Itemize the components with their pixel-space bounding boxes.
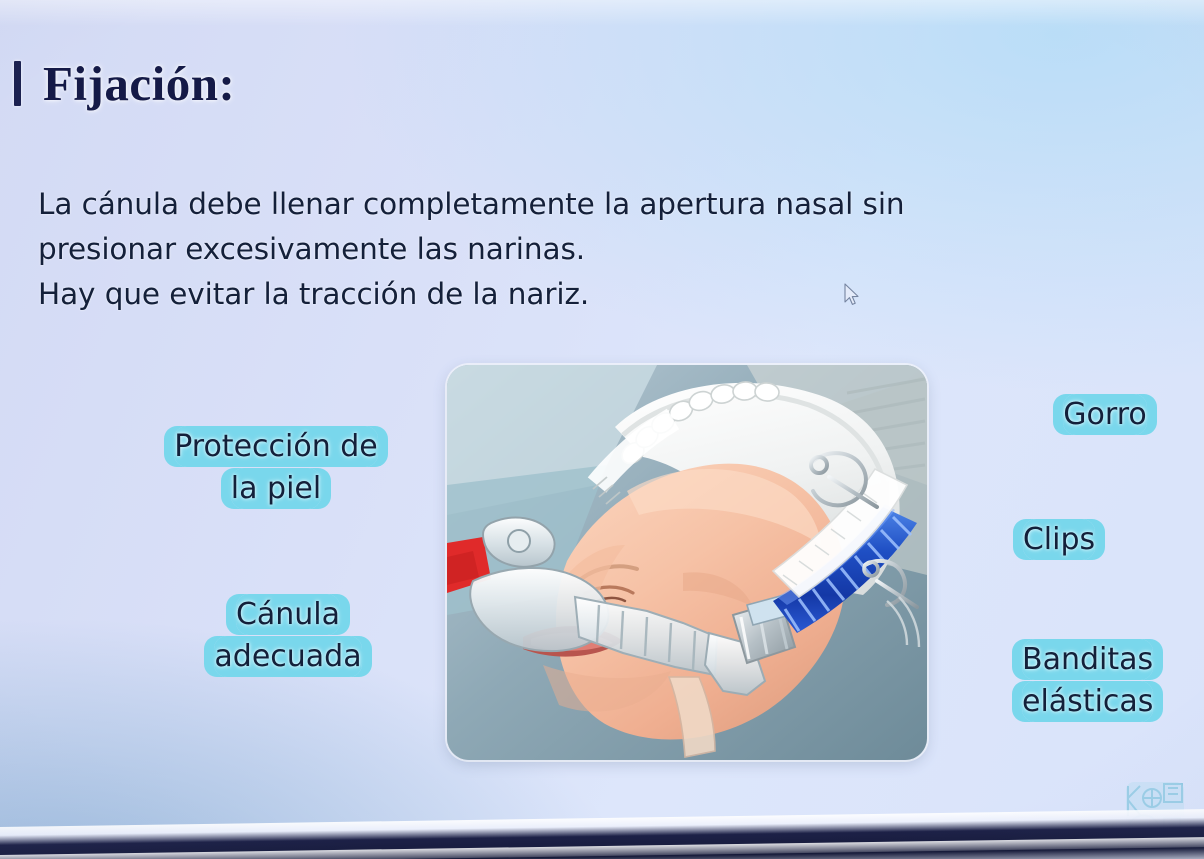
- callout-line: elásticas: [1022, 681, 1153, 722]
- page-title: Fijación:: [43, 58, 235, 109]
- callout-line: Banditas: [1022, 639, 1153, 680]
- callout-label-banditas-elasticas: Banditas elásticas: [1022, 637, 1204, 726]
- body-line-3: Hay que evitar la tracción de la nariz.: [38, 272, 1148, 317]
- slide-title-row: Fijación:: [14, 58, 235, 109]
- callout-line: Cánula: [236, 594, 340, 635]
- body-line-2: presionar excesivamente las narinas.: [38, 227, 1148, 272]
- neonate-cpap-photo-illustration: [447, 365, 927, 760]
- callout-line: la piel: [231, 468, 321, 509]
- callout-line: adecuada: [214, 636, 361, 677]
- callout-line: Gorro: [1063, 394, 1146, 435]
- callout-label-proteccion-de-la-piel: Protección de la piel: [140, 424, 412, 513]
- callout-label-clips: Clips: [1000, 517, 1118, 563]
- callout-line: Protección de: [174, 426, 378, 467]
- callout-line: Clips: [1023, 519, 1095, 560]
- slide-photo-stage: Fijación: La cánula debe llenar completa…: [0, 0, 1204, 859]
- slide-body-text: La cánula debe llenar completamente la a…: [38, 182, 1148, 317]
- body-line-1: La cánula debe llenar completamente la a…: [38, 182, 1148, 227]
- callout-label-canula-adecuada: Cánula adecuada: [182, 592, 394, 681]
- clinical-photo: [447, 365, 927, 760]
- vertical-bar-icon: [14, 61, 21, 106]
- callout-label-gorro: Gorro: [1040, 392, 1170, 438]
